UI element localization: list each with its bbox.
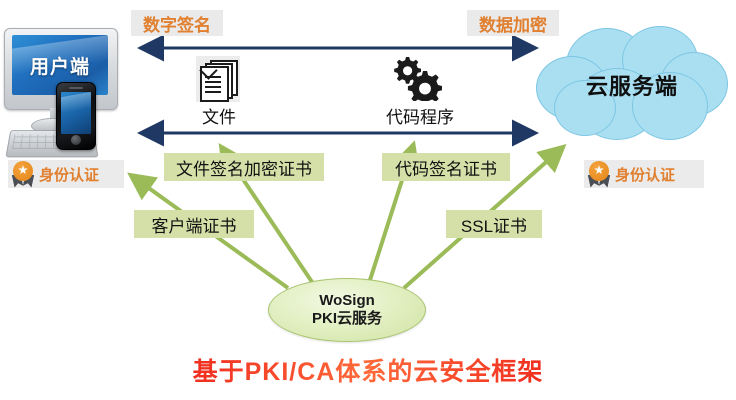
phone-speaker [69, 87, 83, 89]
cloud-identity-badge: 身份认证 [584, 160, 704, 188]
certificate-seal-icon [586, 161, 612, 187]
cloud-label: 云服务端 [536, 26, 728, 144]
hub-line-2: PKI云服务 [312, 310, 382, 328]
asset-label-code: 代码程序 [378, 104, 462, 126]
hub-line-1: WoSign [319, 292, 375, 310]
certificate-label-file-signing: 文件签名加密证书 [164, 153, 324, 181]
phone-home-button [71, 135, 81, 145]
certificate-label-client: 客户端证书 [134, 210, 254, 238]
smartphone-icon [56, 82, 96, 150]
gears-icon [390, 55, 442, 101]
certificate-label-ssl: SSL证书 [446, 210, 542, 238]
wosign-pki-hub[interactable]: WoSign PKI云服务 [268, 278, 426, 342]
document-icon [196, 56, 240, 102]
certificate-seal-icon [10, 161, 36, 187]
flow-label-signature: 数字签名 [131, 10, 223, 36]
client-badge-label: 身份认证 [39, 164, 99, 185]
client-identity-badge: 身份认证 [8, 160, 124, 188]
diagram-title: 基于PKI/CA体系的云安全框架 [0, 352, 736, 388]
phone-glare [61, 92, 91, 114]
certificate-label-code-signing: 代码签名证书 [382, 153, 510, 181]
asset-label-file: 文件 [186, 104, 252, 126]
cloud-badge-label: 身份认证 [615, 164, 675, 185]
phone-screen [61, 92, 91, 134]
diagram-canvas: 用户端 身份认证 云服务端 [0, 0, 736, 400]
cloud-server: 云服务端 [536, 26, 728, 144]
